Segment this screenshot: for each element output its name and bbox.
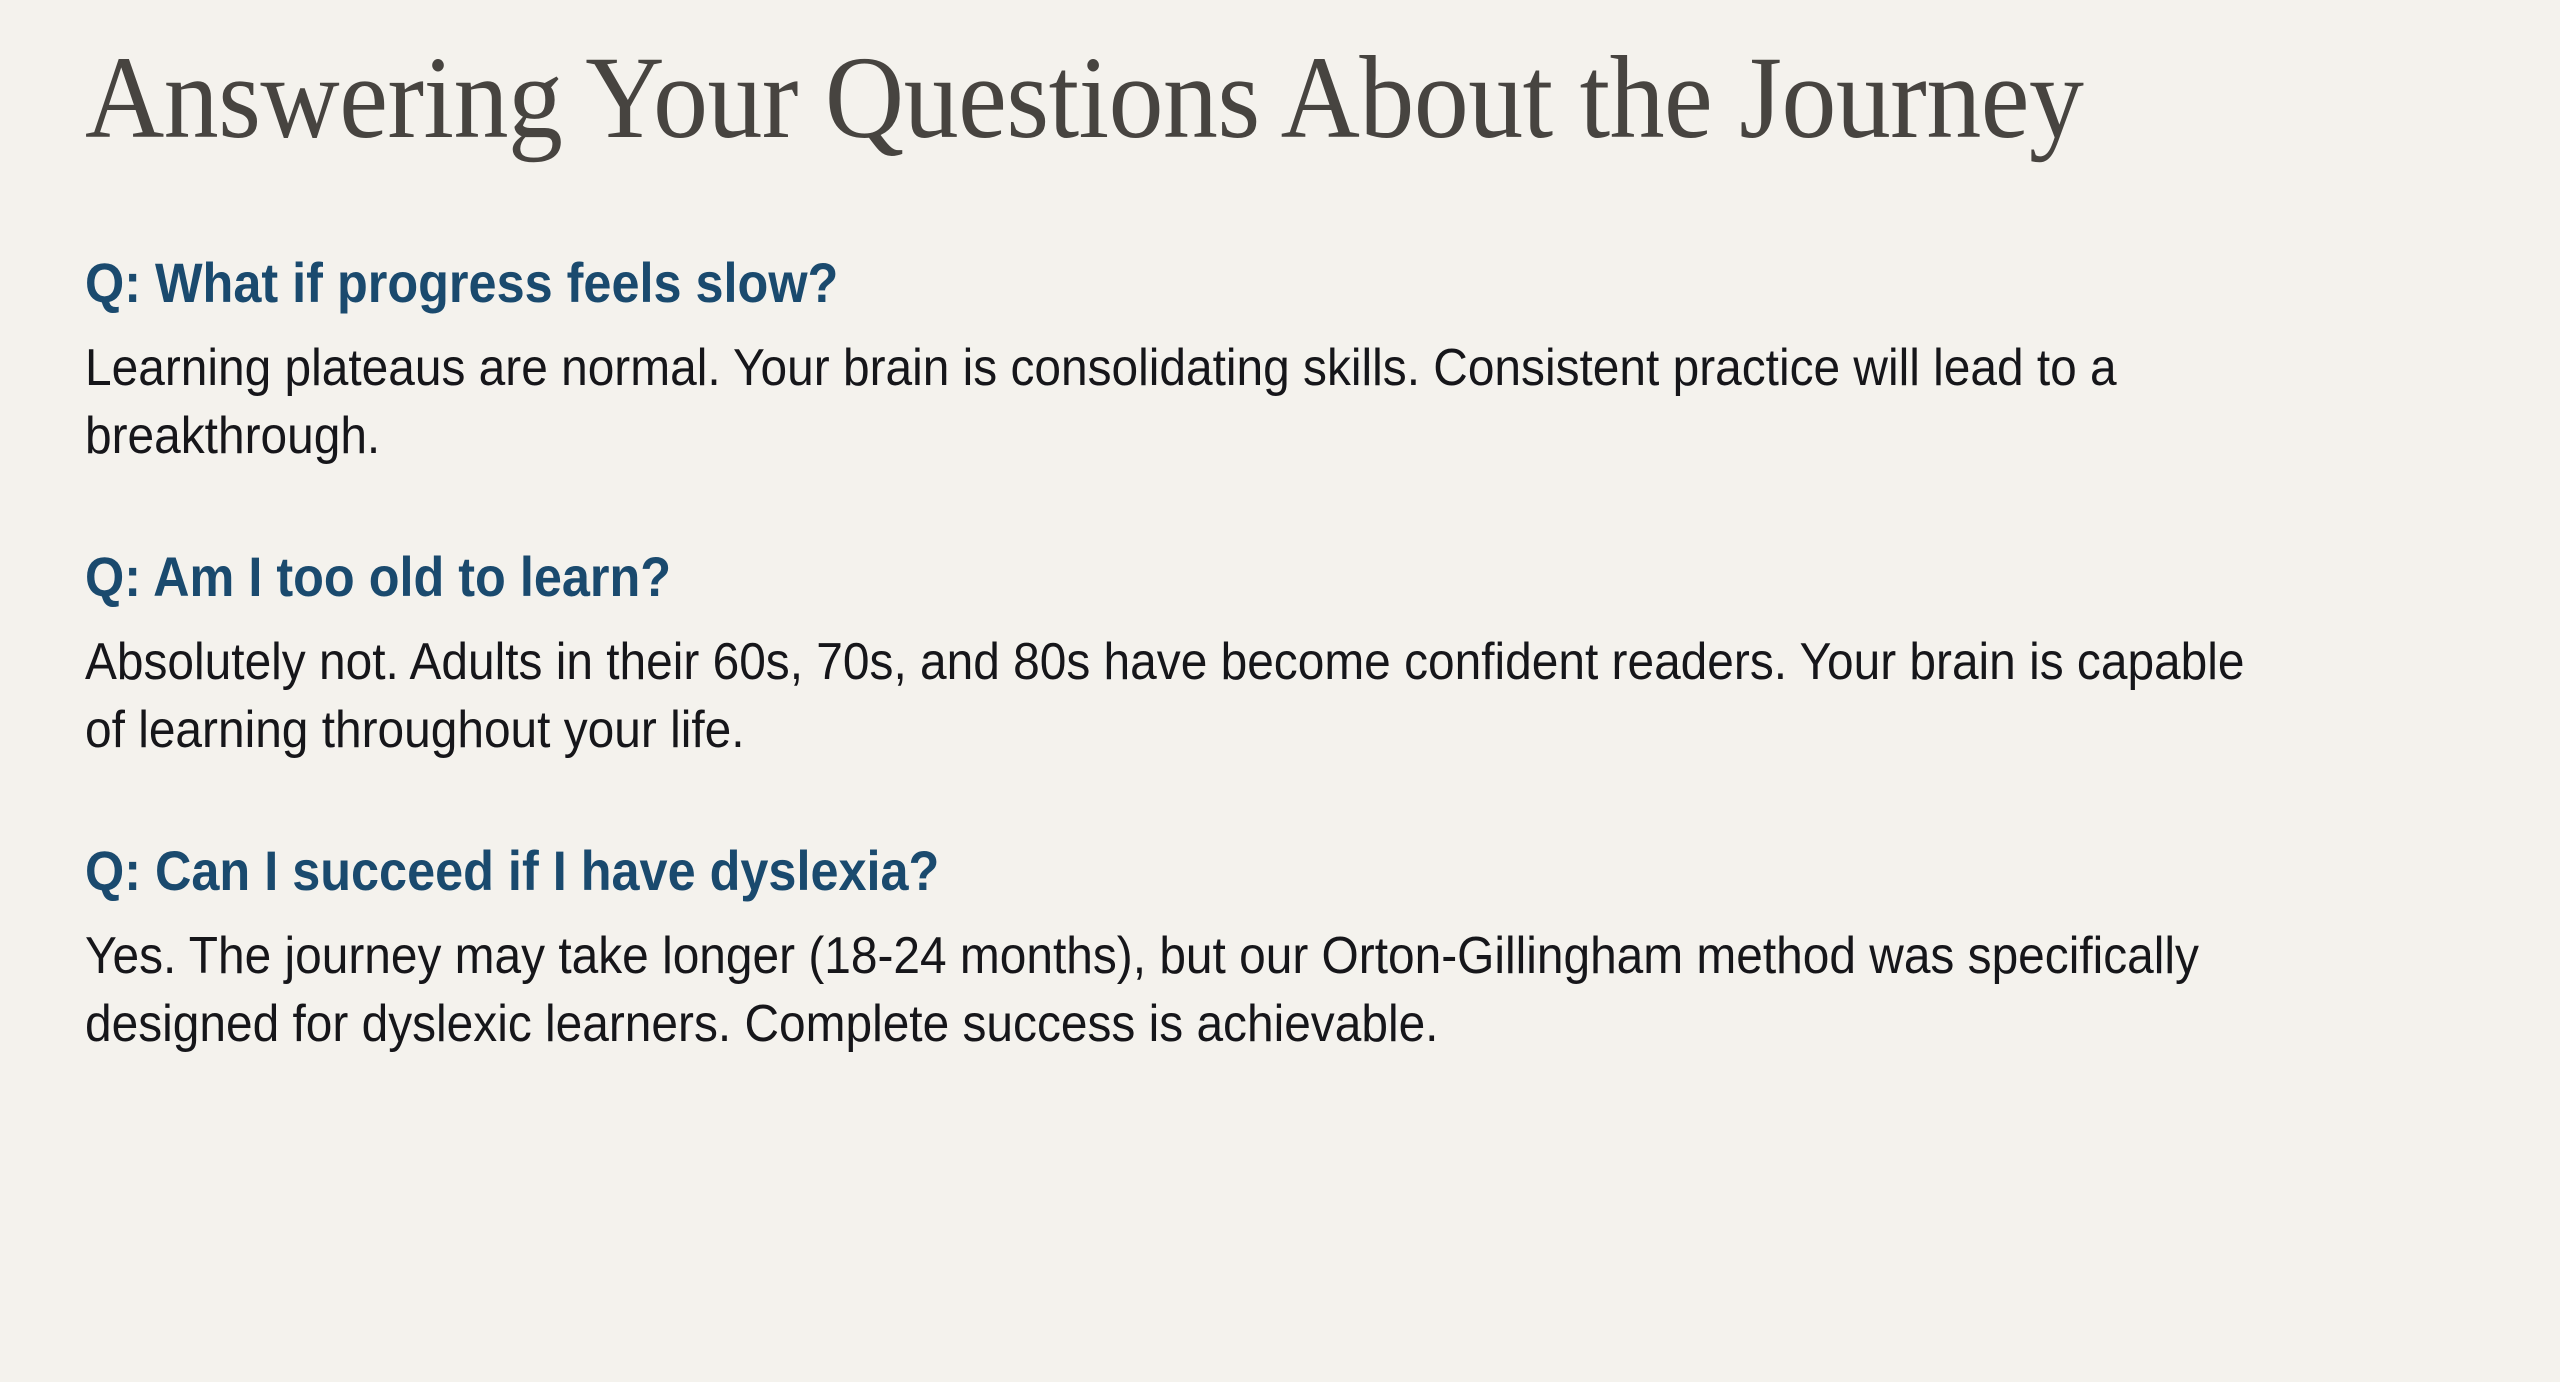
faq-item: Q: Am I too old to learn? Absolutely not…: [85, 548, 2475, 764]
faq-question: Q: Can I succeed if I have dyslexia?: [85, 842, 2236, 901]
faq-answer: Learning plateaus are normal. Your brain…: [85, 335, 2284, 470]
faq-item: Q: Can I succeed if I have dyslexia? Yes…: [85, 842, 2475, 1058]
faq-list: Q: What if progress feels slow? Learning…: [85, 254, 2475, 1058]
faq-answer: Yes. The journey may take longer (18-24 …: [85, 923, 2284, 1058]
faq-slide: Answering Your Questions About the Journ…: [0, 0, 2560, 1382]
faq-item: Q: What if progress feels slow? Learning…: [85, 254, 2475, 470]
page-title: Answering Your Questions About the Journ…: [85, 0, 2308, 158]
faq-question: Q: What if progress feels slow?: [85, 254, 2236, 313]
faq-question: Q: Am I too old to learn?: [85, 548, 2236, 607]
faq-answer: Absolutely not. Adults in their 60s, 70s…: [85, 629, 2284, 764]
